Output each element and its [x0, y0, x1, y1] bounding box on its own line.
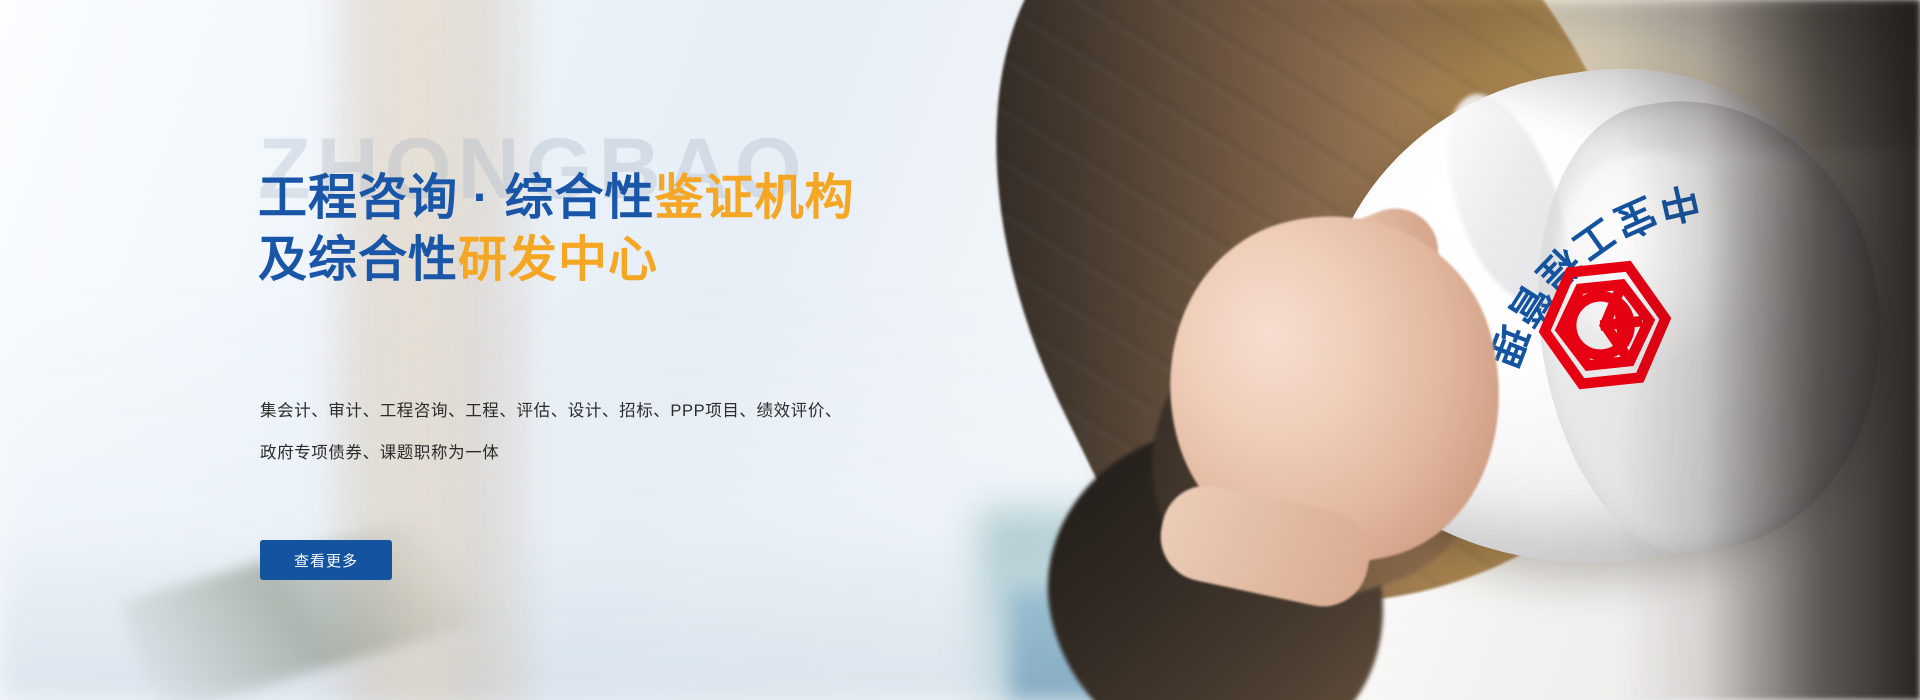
description-line-2: 政府专项债券、课题职称为一体 — [260, 432, 900, 474]
right-edge-shadow — [1620, 0, 1920, 700]
headline-line-1: 工程咨询 · 综合性鉴证机构 — [258, 168, 1118, 230]
headline-line-1-orange: 鉴证机构 — [655, 171, 855, 225]
headline-line-2: 及综合性研发中心 — [258, 230, 1118, 292]
view-more-button[interactable]: 查看更多 — [260, 540, 392, 580]
page-title: 工程咨询 · 综合性鉴证机构 及综合性研发中心 — [258, 168, 1118, 291]
headline-line-1-blue: 工程咨询 · 综合性 — [258, 171, 655, 225]
hero-description: 集会计、审计、工程咨询、工程、评估、设计、招标、PPP项目、绩效评价、 政府专项… — [260, 390, 900, 474]
hero-content: ZHONGBAO 工程咨询 · 综合性鉴证机构 及综合性研发中心 集会计、审计、… — [258, 0, 1158, 700]
description-line-1: 集会计、审计、工程咨询、工程、评估、设计、招标、PPP项目、绩效评价、 — [260, 390, 900, 432]
headline-line-2-orange: 研发中心 — [458, 233, 658, 287]
hero-banner: 中宝工程管理 Z — [0, 0, 1920, 700]
headline-line-2-blue: 及综合性 — [258, 233, 458, 287]
